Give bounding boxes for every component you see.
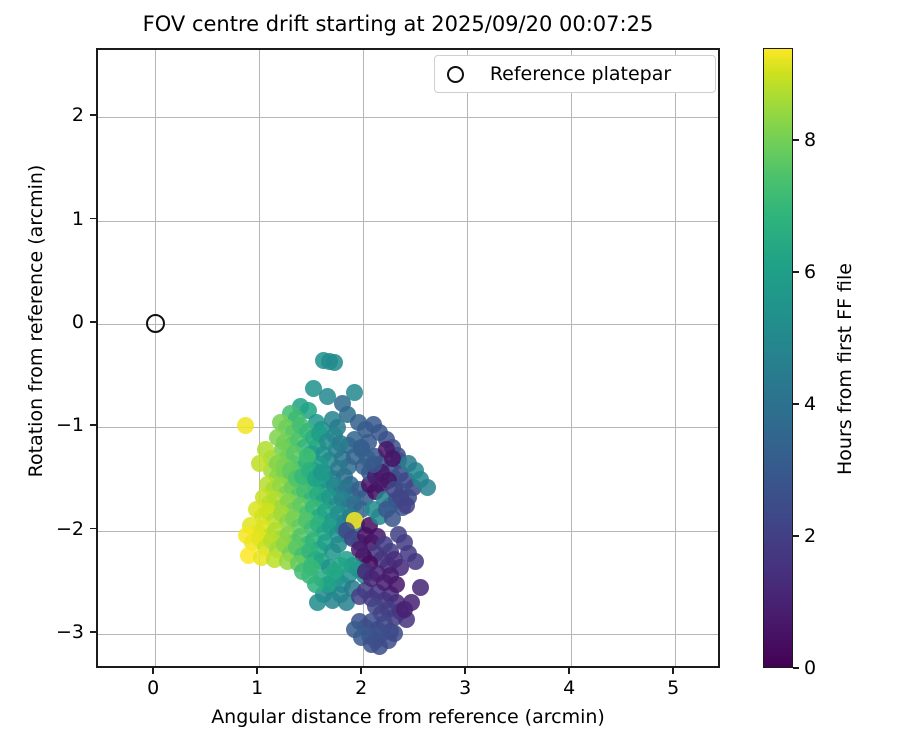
- scatter-point[interactable]: [251, 455, 268, 472]
- gridline-horizontal: [98, 427, 718, 428]
- x-axis-tick-label: 4: [563, 677, 575, 699]
- scatter-point[interactable]: [388, 576, 405, 593]
- gridline-horizontal: [98, 324, 718, 325]
- scatter-point[interactable]: [371, 638, 388, 655]
- y-axis-tick: [90, 321, 96, 323]
- y-axis-tick: [90, 218, 96, 220]
- x-axis-tick-label: 1: [251, 677, 263, 699]
- gridline-horizontal: [98, 531, 718, 532]
- scatter-point[interactable]: [398, 497, 415, 514]
- colorbar-tick-label: 6: [804, 261, 816, 283]
- y-axis-tick-label: −3: [56, 621, 84, 643]
- gridline-horizontal: [98, 221, 718, 222]
- colorbar-tick: [793, 271, 799, 273]
- colorbar-label: Hours from first FF file: [834, 59, 856, 679]
- scatter-point[interactable]: [365, 456, 382, 473]
- y-axis-tick-label: 0: [72, 311, 84, 333]
- scatter-point[interactable]: [407, 553, 424, 570]
- legend-open-circle-icon: [447, 66, 464, 83]
- y-axis-tick: [90, 424, 96, 426]
- y-axis-tick-label: 1: [72, 208, 84, 230]
- x-axis-label: Angular distance from reference (arcmin): [96, 706, 720, 728]
- scatter-point[interactable]: [303, 559, 320, 576]
- x-axis-tick-label: 0: [147, 677, 159, 699]
- scatter-point[interactable]: [309, 594, 326, 611]
- colorbar-tick-label: 8: [804, 129, 816, 151]
- colorbar-tick-label: 2: [804, 525, 816, 547]
- colorbar-tick: [793, 535, 799, 537]
- gridline-vertical: [675, 50, 676, 666]
- gridline-vertical: [259, 50, 260, 666]
- x-axis-tick: [256, 668, 258, 674]
- scatter-point[interactable]: [351, 541, 368, 558]
- scatter-point[interactable]: [346, 384, 363, 401]
- x-axis-tick: [360, 668, 362, 674]
- x-axis-tick-label: 5: [667, 677, 679, 699]
- x-axis-tick: [464, 668, 466, 674]
- y-axis-tick-label: 2: [72, 104, 84, 126]
- scatter-point[interactable]: [384, 450, 401, 467]
- x-axis-tick: [568, 668, 570, 674]
- y-axis-tick: [90, 114, 96, 116]
- x-axis-tick: [152, 668, 154, 674]
- colorbar-tick: [793, 403, 799, 405]
- y-axis-tick-label: −2: [56, 518, 84, 540]
- x-axis-tick-label: 2: [355, 677, 367, 699]
- reference-platepar-marker[interactable]: [146, 314, 165, 333]
- colorbar-tick: [793, 667, 799, 669]
- gridline-vertical: [467, 50, 468, 666]
- scatter-point[interactable]: [419, 479, 436, 496]
- colorbar-tick-label: 4: [804, 393, 816, 415]
- scatter-point[interactable]: [353, 439, 370, 456]
- gridline-horizontal: [98, 117, 718, 118]
- scatter-point[interactable]: [403, 594, 420, 611]
- plot-area[interactable]: [96, 48, 720, 668]
- colorbar-gradient[interactable]: [763, 48, 793, 668]
- scatter-point[interactable]: [237, 417, 254, 434]
- scatter-point[interactable]: [412, 579, 429, 596]
- scatter-point[interactable]: [384, 510, 401, 527]
- scatter-point[interactable]: [332, 435, 349, 452]
- colorbar-tick: [793, 139, 799, 141]
- legend-label-reference-platepar: Reference platepar: [464, 63, 703, 85]
- legend[interactable]: Reference platepar: [434, 55, 716, 93]
- y-axis-label: Rotation from reference (arcmin): [25, 11, 47, 631]
- y-axis-tick: [90, 528, 96, 530]
- scatter-point[interactable]: [386, 625, 403, 642]
- chart-title: FOV centre drift starting at 2025/09/20 …: [0, 12, 796, 36]
- gridline-vertical: [571, 50, 572, 666]
- x-axis-tick: [672, 668, 674, 674]
- scatter-point[interactable]: [326, 354, 343, 371]
- y-axis-tick-label: −1: [56, 414, 84, 436]
- colorbar-tick-label: 0: [804, 657, 816, 679]
- gridline-horizontal: [98, 634, 718, 635]
- x-axis-tick-label: 3: [459, 677, 471, 699]
- colorbar-container[interactable]: 02468 Hours from first FF file: [763, 48, 883, 668]
- y-axis-tick: [90, 631, 96, 633]
- gridline-vertical: [155, 50, 156, 666]
